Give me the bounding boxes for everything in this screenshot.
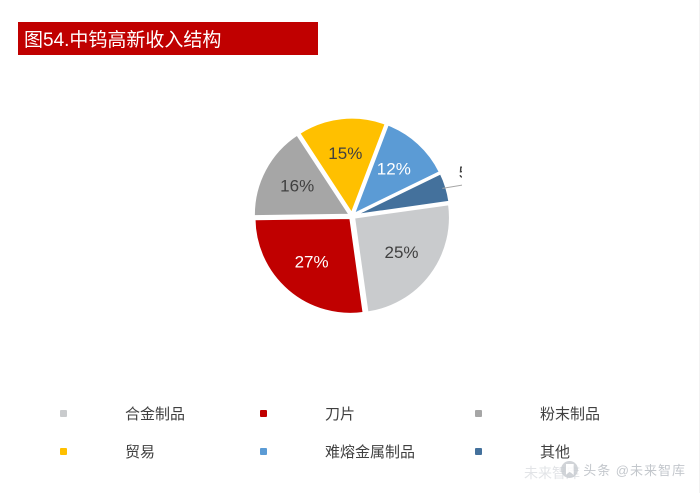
legend-row: 合金制品 刀片 粉末制品 xyxy=(60,400,640,438)
chart-page: 图54.中钨高新收入结构 25% 27% 16% xyxy=(0,0,700,493)
legend-marker-blade xyxy=(260,410,267,417)
legend-item-blade[interactable]: 刀片 xyxy=(260,400,475,426)
page-title: 图54.中钨高新收入结构 xyxy=(18,25,221,52)
pie-svg: 25% 27% 16% 15% 12% 5% xyxy=(242,108,462,328)
legend-marker-trade xyxy=(60,448,67,455)
legend-item-refractory[interactable]: 难熔金属制品 xyxy=(260,438,475,464)
chart-title-bar: 图54.中钨高新收入结构 xyxy=(18,22,318,55)
legend-label-powder: 粉末制品 xyxy=(540,403,600,424)
pie-label-other: 5% xyxy=(459,163,462,182)
watermark-text: 头条 @未来智库 xyxy=(583,460,686,479)
legend-label-alloy: 合金制品 xyxy=(125,403,185,424)
pie-label-alloy: 25% xyxy=(384,243,418,262)
pie-chart: 25% 27% 16% 15% 12% 5% xyxy=(242,108,462,328)
bookmark-icon xyxy=(561,461,578,478)
pie-label-trade: 15% xyxy=(328,144,362,163)
legend-label-other: 其他 xyxy=(540,441,570,462)
pie-chart-area: 25% 27% 16% 15% 12% 5% xyxy=(0,60,700,390)
legend-marker-other xyxy=(475,448,482,455)
legend-marker-refractory xyxy=(260,448,267,455)
legend-marker-alloy xyxy=(60,410,67,417)
legend-item-alloy[interactable]: 合金制品 xyxy=(60,400,260,426)
legend-item-trade[interactable]: 贸易 xyxy=(60,438,260,464)
legend-item-powder[interactable]: 粉末制品 xyxy=(475,400,640,426)
legend-label-blade: 刀片 xyxy=(325,403,355,424)
watermark: 头条 @未来智库 xyxy=(561,460,686,479)
legend-label-refractory: 难熔金属制品 xyxy=(325,441,415,462)
legend-marker-powder xyxy=(475,410,482,417)
pie-label-blade: 27% xyxy=(295,253,329,272)
legend-label-trade: 贸易 xyxy=(125,441,155,462)
pie-label-refractory: 12% xyxy=(377,160,411,179)
pie-label-powder: 16% xyxy=(280,176,314,195)
